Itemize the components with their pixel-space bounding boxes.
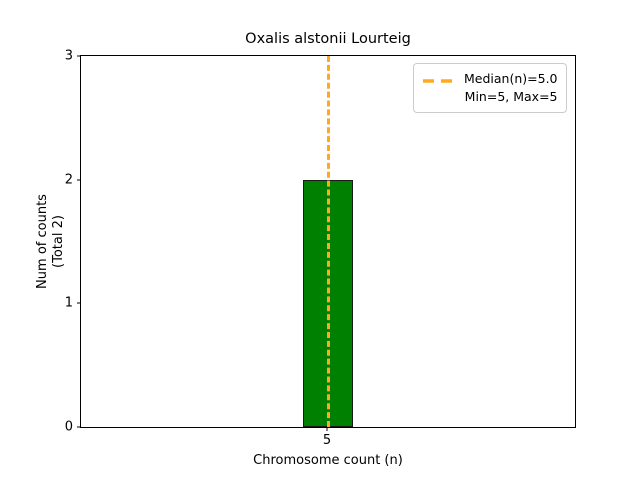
plot-area: 0 1 2 3 5 Median(n)=5.0 Min=5, Max=5 [80, 55, 576, 428]
page-title: Oxalis alstonii Lourteig [80, 31, 576, 47]
y-axis-label: Num of counts (Total 2) [28, 55, 74, 428]
median-line [327, 56, 330, 427]
y-axis-label-line1: Num of counts [35, 194, 51, 289]
legend-text: Median(n)=5.0 Min=5, Max=5 [464, 70, 558, 106]
chart-figure: Oxalis alstonii Lourteig 0 1 2 3 5 Media… [0, 0, 640, 480]
legend: Median(n)=5.0 Min=5, Max=5 [413, 63, 567, 113]
y-axis-label-line2: (Total 2) [51, 215, 67, 268]
legend-entry-minmax: Min=5, Max=5 [465, 89, 558, 104]
x-axis-label: Chromosome count (n) [80, 453, 576, 468]
xtick-label-5: 5 [323, 427, 331, 448]
legend-dashed-line-icon [422, 77, 456, 85]
legend-entry-median: Median(n)=5.0 [464, 71, 558, 86]
